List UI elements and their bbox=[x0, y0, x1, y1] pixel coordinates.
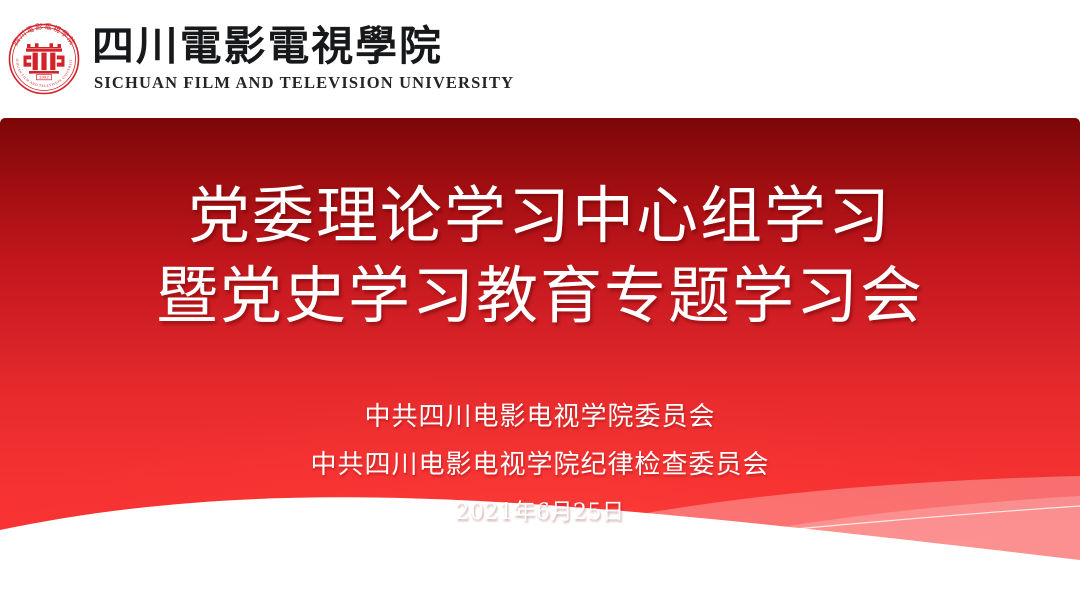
slide-subtitle-line-1: 中共四川电影电视学院委员会 bbox=[0, 396, 1080, 433]
header-bar: 四川電影電視學院 SICHUAN FILM AND TELEVISION UNI… bbox=[0, 0, 1080, 118]
slide-content: 党委理论学习中心组学习 暨党史学习教育专题学习会 中共四川电影电视学院委员会 中… bbox=[0, 118, 1080, 608]
university-logo: 四川電影電視學院 SICHUAN FILM AND TELEVISION UNI… bbox=[2, 17, 514, 101]
slide-panel: 党委理论学习中心组学习 暨党史学习教育专题学习会 中共四川电影电视学院委员会 中… bbox=[0, 118, 1080, 608]
wordmark-english: SICHUAN FILM AND TELEVISION UNIVERSITY bbox=[94, 73, 514, 93]
slide-date: 2021年6月25日 bbox=[0, 494, 1080, 526]
slide-title-line-2: 暨党史学习教育专题学习会 bbox=[0, 260, 1080, 332]
svg-text:1992: 1992 bbox=[39, 75, 50, 80]
university-seal-icon: 四川電影電視學院 SICHUAN FILM AND TELEVISION UNI… bbox=[2, 17, 86, 101]
slide-subtitle-line-2: 中共四川电影电视学院纪律检查委员会 bbox=[0, 444, 1080, 481]
slide-title-line-1: 党委理论学习中心组学习 bbox=[0, 180, 1080, 252]
wordmark-chinese: 四川電影電視學院 bbox=[92, 25, 523, 68]
university-wordmark: 四川電影電視學院 SICHUAN FILM AND TELEVISION UNI… bbox=[92, 25, 514, 92]
